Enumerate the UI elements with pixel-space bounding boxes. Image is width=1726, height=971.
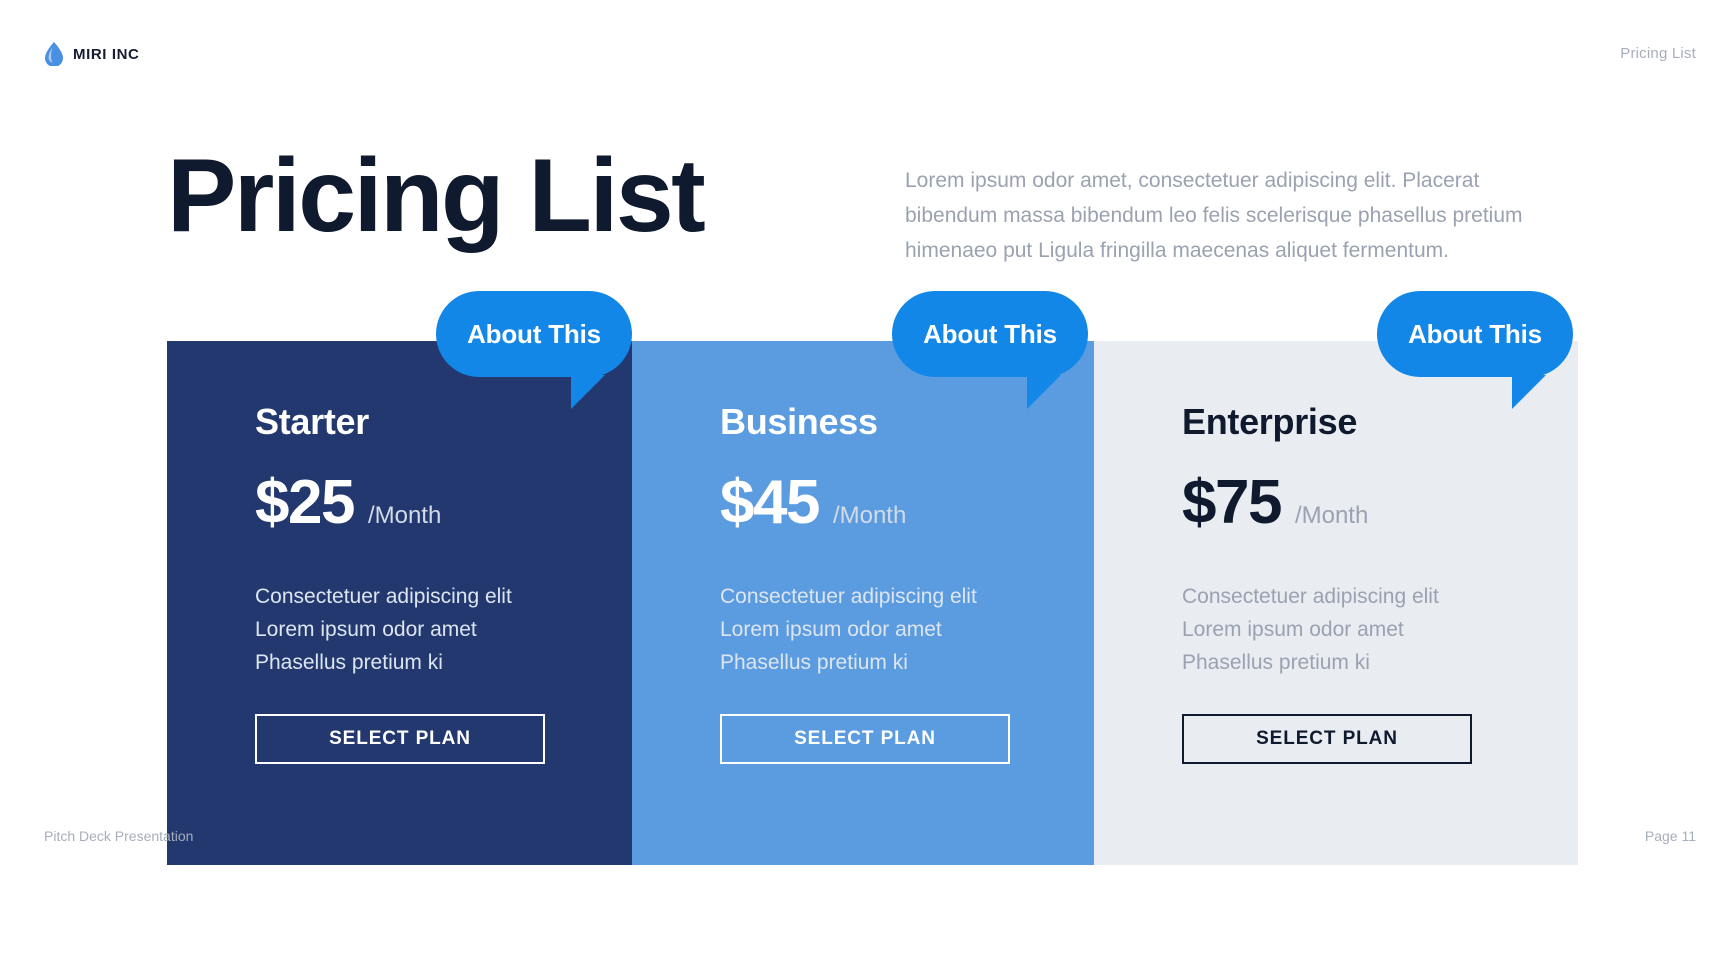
list-item: Lorem ipsum odor amet <box>1182 613 1578 646</box>
about-this-bubble-enterprise[interactable]: About This <box>1377 291 1573 377</box>
pricing-card-starter: About This Starter $25 /Month Consectetu… <box>167 341 632 865</box>
list-item: Consectetuer adipiscing elit <box>255 580 632 613</box>
plan-price: $75 /Month <box>1182 467 1578 538</box>
brand-logo: MIRI INC <box>44 42 139 66</box>
bubble-label: About This <box>1408 319 1542 350</box>
water-drop-icon <box>44 42 64 66</box>
intro-paragraph: Lorem ipsum odor amet, consectetuer adip… <box>905 163 1565 268</box>
footer-deck-name: Pitch Deck Presentation <box>44 828 193 844</box>
header-section-label: Pricing List <box>1620 45 1696 62</box>
list-item: Lorem ipsum odor amet <box>255 613 632 646</box>
footer-page-number: Page 11 <box>1645 828 1696 844</box>
bubble-label: About This <box>923 319 1057 350</box>
bubble-tail-icon <box>1512 375 1546 409</box>
pricing-card-business: About This Business $45 /Month Consectet… <box>632 341 1094 865</box>
plan-price-period: /Month <box>1295 502 1368 530</box>
list-item: Consectetuer adipiscing elit <box>1182 580 1578 613</box>
plan-price-amount: $45 <box>720 467 819 538</box>
pricing-card-enterprise: About This Enterprise $75 /Month Consect… <box>1094 341 1578 865</box>
bubble-body: About This <box>892 291 1088 377</box>
list-item: Phasellus pretium ki <box>255 646 632 679</box>
plan-feature-list: Consectetuer adipiscing elit Lorem ipsum… <box>1182 580 1578 679</box>
pricing-slide: MIRI INC Pricing List Pricing List Lorem… <box>0 0 1726 971</box>
select-plan-button-starter[interactable]: SELECT PLAN <box>255 714 545 764</box>
plan-price: $25 /Month <box>255 467 632 538</box>
bubble-label: About This <box>467 319 601 350</box>
plan-price-period: /Month <box>368 502 441 530</box>
plan-feature-list: Consectetuer adipiscing elit Lorem ipsum… <box>720 580 1094 679</box>
plan-feature-list: Consectetuer adipiscing elit Lorem ipsum… <box>255 580 632 679</box>
list-item: Lorem ipsum odor amet <box>720 613 1094 646</box>
bubble-tail-icon <box>1027 375 1061 409</box>
select-plan-button-enterprise[interactable]: SELECT PLAN <box>1182 714 1472 764</box>
page-title: Pricing List <box>167 140 703 252</box>
plan-price-amount: $25 <box>255 467 354 538</box>
list-item: Consectetuer adipiscing elit <box>720 580 1094 613</box>
select-plan-button-business[interactable]: SELECT PLAN <box>720 714 1010 764</box>
about-this-bubble-business[interactable]: About This <box>892 291 1088 377</box>
brand-name: MIRI INC <box>73 46 139 63</box>
plan-price-amount: $75 <box>1182 467 1281 538</box>
bubble-body: About This <box>436 291 632 377</box>
plan-price: $45 /Month <box>720 467 1094 538</box>
list-item: Phasellus pretium ki <box>720 646 1094 679</box>
plan-price-period: /Month <box>833 502 906 530</box>
bubble-body: About This <box>1377 291 1573 377</box>
about-this-bubble-starter[interactable]: About This <box>436 291 632 377</box>
list-item: Phasellus pretium ki <box>1182 646 1578 679</box>
bubble-tail-icon <box>571 375 605 409</box>
pricing-cards: About This Starter $25 /Month Consectetu… <box>167 341 1578 865</box>
